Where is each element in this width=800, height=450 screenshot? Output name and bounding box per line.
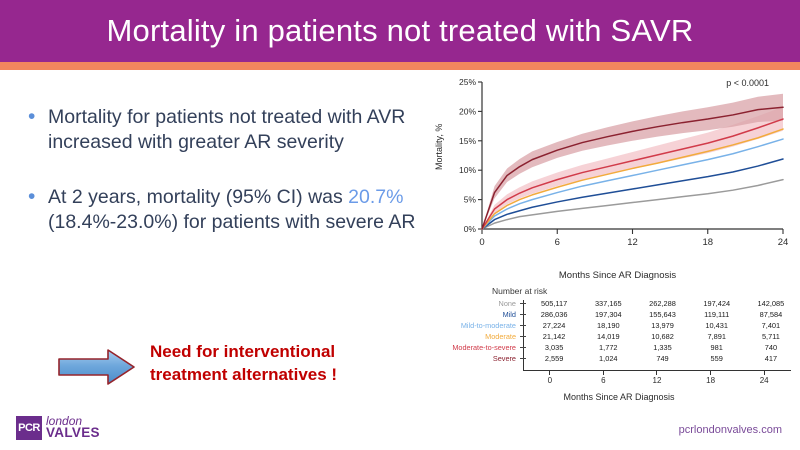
x-axis-label: Months Since AR Diagnosis <box>440 270 795 281</box>
table-row: Moderate-to-severe3,0351,7721,335981740 <box>440 342 798 353</box>
risk-row-values: 505,117337,165262,288197,424142,085 <box>527 299 798 308</box>
accent-bar <box>0 62 800 70</box>
risk-row-values: 27,22418,19013,97910,4317,401 <box>527 321 798 330</box>
mortality-value-highlight: 20.7% <box>348 186 403 208</box>
risk-cell: 286,036 <box>527 310 581 319</box>
risk-cell: 14,019 <box>581 332 635 341</box>
risk-row-label: Severe <box>440 354 520 363</box>
risk-cell: 197,424 <box>690 299 744 308</box>
risk-cell: 262,288 <box>635 299 689 308</box>
risk-cell: 1,772 <box>581 343 635 352</box>
risk-cell: 559 <box>690 354 744 363</box>
risk-x-tick: 24 <box>737 371 791 385</box>
risk-cell: 13,979 <box>635 321 689 330</box>
risk-cell: 21,142 <box>527 332 581 341</box>
slide: Mortality in patients not treated with S… <box>0 0 800 450</box>
risk-x-axis-label: Months Since AR Diagnosis <box>440 392 798 402</box>
list-item: • At 2 years, mortality (95% CI) was 20.… <box>28 185 428 235</box>
risk-row-label: None <box>440 299 520 308</box>
bullet-2-suffix: (18.4%-23.0%) for patients with severe A… <box>48 211 415 233</box>
callout-line-1: Need for interventional <box>150 340 440 363</box>
risk-cell: 7,401 <box>744 321 798 330</box>
risk-cell: 10,431 <box>690 321 744 330</box>
risk-x-ticks: 06121824 <box>523 371 791 385</box>
risk-x-tick: 0 <box>523 371 577 385</box>
risk-table-title: Number at risk <box>492 286 547 296</box>
table-row: Moderate21,14214,01910,6827,8915,711 <box>440 331 798 342</box>
svg-text:0: 0 <box>479 237 484 248</box>
risk-row-values: 3,0351,7721,335981740 <box>527 343 798 352</box>
table-row: Mild-to-moderate27,22418,19013,97910,431… <box>440 320 798 331</box>
risk-cell: 18,190 <box>581 321 635 330</box>
bullet-text-2: At 2 years, mortality (95% CI) was 20.7%… <box>48 185 428 235</box>
pcr-london-valves-logo: PCR london VALVES <box>16 414 146 442</box>
risk-x-tick: 18 <box>684 371 738 385</box>
risk-cell: 5,711 <box>744 332 798 341</box>
number-at-risk-table: Number at risk None505,117337,165262,288… <box>440 286 798 396</box>
svg-text:24: 24 <box>778 237 789 248</box>
risk-row-values: 286,036197,304155,643119,11187,584 <box>527 310 798 319</box>
risk-row-tick-icon <box>520 303 527 304</box>
svg-text:6: 6 <box>555 237 560 248</box>
risk-row-label: Mild-to-moderate <box>440 321 520 330</box>
svg-text:18: 18 <box>702 237 713 248</box>
risk-cell: 417 <box>744 354 798 363</box>
y-axis-label: Mortality, % <box>434 124 444 170</box>
risk-row-tick-icon <box>520 325 527 326</box>
callout: Need for interventional treatment altern… <box>58 340 438 400</box>
risk-cell: 1,024 <box>581 354 635 363</box>
bullet-1-text: Mortality for patients not treated with … <box>48 106 405 153</box>
risk-rows: None505,117337,165262,288197,424142,085M… <box>440 298 798 364</box>
risk-cell: 3,035 <box>527 343 581 352</box>
bullet-list: • Mortality for patients not treated wit… <box>28 105 428 265</box>
risk-row-tick-icon <box>520 358 527 359</box>
svg-text:5%: 5% <box>464 195 477 205</box>
website-url: pcrlondonvalves.com <box>679 424 782 436</box>
risk-cell: 155,643 <box>635 310 689 319</box>
svg-text:25%: 25% <box>459 77 476 87</box>
logo-mark: PCR <box>16 416 42 440</box>
risk-cell: 10,682 <box>635 332 689 341</box>
table-row: None505,117337,165262,288197,424142,085 <box>440 298 798 309</box>
risk-row-values: 2,5591,024749559417 <box>527 354 798 363</box>
risk-row-tick-icon <box>520 336 527 337</box>
risk-cell: 119,111 <box>690 310 744 319</box>
bullet-dot-icon: • <box>28 185 48 235</box>
risk-cell: 87,584 <box>744 310 798 319</box>
callout-text: Need for interventional treatment altern… <box>150 340 440 386</box>
risk-cell: 1,335 <box>635 343 689 352</box>
risk-row-values: 21,14214,01910,6827,8915,711 <box>527 332 798 341</box>
bullet-text-1: Mortality for patients not treated with … <box>48 105 428 155</box>
risk-cell: 197,304 <box>581 310 635 319</box>
svg-text:0%: 0% <box>464 224 477 234</box>
km-mortality-chart: p < 0.0001 Mortality, % 0%5%10%15%20%25%… <box>440 74 795 294</box>
chart-plot-area: 0%5%10%15%20%25%06121824 <box>440 74 795 269</box>
risk-x-tick: 12 <box>630 371 684 385</box>
risk-cell: 505,117 <box>527 299 581 308</box>
risk-row-label: Moderate <box>440 332 520 341</box>
table-row: Severe2,5591,024749559417 <box>440 353 798 364</box>
risk-cell: 142,085 <box>744 299 798 308</box>
list-item: • Mortality for patients not treated wit… <box>28 105 428 155</box>
svg-text:15%: 15% <box>459 136 476 146</box>
logo-line-2: VALVES <box>46 426 100 440</box>
risk-cell: 27,224 <box>527 321 581 330</box>
risk-cell: 749 <box>635 354 689 363</box>
risk-cell: 981 <box>690 343 744 352</box>
risk-row-tick-icon <box>520 347 527 348</box>
risk-row-label: Moderate-to-severe <box>440 343 520 352</box>
risk-row-label: Mild <box>440 310 520 319</box>
svg-text:10%: 10% <box>459 165 476 175</box>
right-arrow-icon <box>58 348 136 386</box>
bullet-2-prefix: At 2 years, mortality (95% CI) was <box>48 186 348 208</box>
risk-row-tick-icon <box>520 314 527 315</box>
p-value-annotation: p < 0.0001 <box>726 78 769 88</box>
risk-x-tick: 6 <box>577 371 631 385</box>
risk-cell: 740 <box>744 343 798 352</box>
table-row: Mild286,036197,304155,643119,11187,584 <box>440 309 798 320</box>
svg-text:20%: 20% <box>459 106 476 116</box>
page-title: Mortality in patients not treated with S… <box>0 0 800 62</box>
bullet-dot-icon: • <box>28 105 48 155</box>
risk-cell: 7,891 <box>690 332 744 341</box>
risk-cell: 337,165 <box>581 299 635 308</box>
callout-line-2: treatment alternatives ! <box>150 363 440 386</box>
svg-text:12: 12 <box>627 237 638 248</box>
risk-cell: 2,559 <box>527 354 581 363</box>
